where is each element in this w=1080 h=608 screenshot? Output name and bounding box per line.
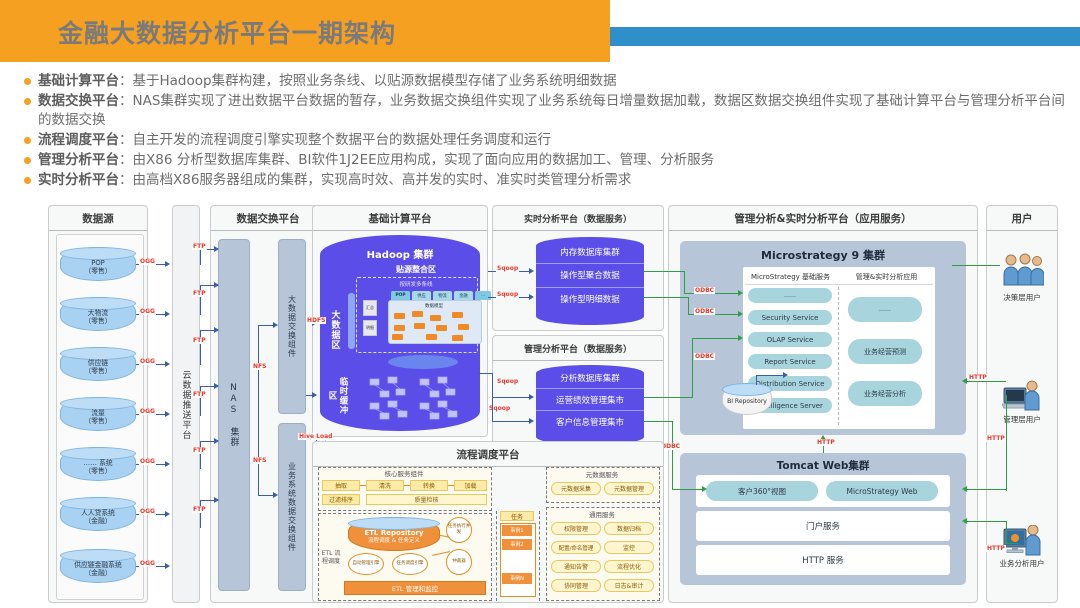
- bullet-dot-icon: [24, 78, 31, 85]
- common-item: 协同管理: [551, 579, 601, 592]
- ds-label-2: （金融）: [74, 569, 122, 577]
- column-header: 管理分析平台（数据服务）: [493, 336, 663, 361]
- common-item: 流程优化: [604, 560, 654, 573]
- data-source-cylinder: 供应链 （零售）: [60, 347, 136, 381]
- bullet-term: 实时分析平台: [38, 172, 119, 188]
- memory-db-title: 内存数据库集群: [536, 245, 644, 259]
- ds-label-1: 流量: [84, 409, 111, 417]
- meta-item: 元数据管理: [604, 482, 654, 495]
- task-row: 事例1: [502, 525, 532, 536]
- bullet-dot-icon: [24, 137, 31, 144]
- bullet-text: 自主开发的流程调度引擎实现整个数据平台的数据处理任务调度和运行: [133, 132, 552, 148]
- column-header: 管理分析&实时分析平台（应用服务）: [669, 206, 977, 231]
- accent-bar: [610, 27, 1080, 46]
- biz-exchange-component: 业务系统数据交换组件: [278, 423, 306, 591]
- data-source-cylinder: 大物流 （零售）: [60, 297, 136, 331]
- protocol-label-ogg: OGG: [139, 358, 156, 365]
- bullet-sep: ：: [119, 152, 133, 168]
- etl-label: ETL 流程调度: [320, 543, 342, 573]
- ms-service-pill[interactable]: ……: [748, 288, 832, 303]
- hadoop-tab[interactable]: 金融: [454, 291, 473, 300]
- bi-repository-cylinder: BI Repository: [722, 383, 772, 415]
- flow-oval: 自动管理引擎: [348, 553, 384, 575]
- protocol-label-ftp: FTP: [192, 391, 207, 398]
- common-item: 监控: [604, 541, 654, 554]
- column-header: 用户: [987, 206, 1057, 231]
- core-step: 转换: [410, 480, 448, 491]
- ds-label-1: 供应链金融系统: [74, 561, 122, 569]
- ds-label-2: （零售）: [84, 367, 111, 375]
- bullet-term: 数据交换平台: [38, 93, 119, 109]
- column-header: 基础计算平台: [313, 206, 487, 231]
- ms-app-pill[interactable]: 业务经营分析: [848, 381, 922, 406]
- protocol-label-nfs: NFS: [252, 457, 267, 464]
- biz-lines-label: 按研发多条线: [360, 279, 472, 289]
- flow-oval: 仲裁器: [446, 549, 472, 575]
- portal-service: 门户服务: [696, 511, 950, 541]
- ms-service-pill[interactable]: OLAP Service: [748, 332, 832, 347]
- user-label: 管理层用户: [988, 413, 1056, 425]
- task-row: 事例2: [502, 539, 532, 550]
- core-step: 清洗: [366, 480, 404, 491]
- hadoop-title: Hadoop 集群: [320, 245, 480, 261]
- user-label: 业务分析用户: [984, 557, 1060, 569]
- bullet-dot-icon: [24, 98, 31, 105]
- protocol-label-ogg: OGG: [139, 508, 156, 515]
- cloud-push-platform-label: 云数据推送平台: [176, 325, 196, 485]
- core-step: 抽取: [322, 480, 360, 491]
- tomcat-title: Tomcat Web集群: [680, 457, 966, 473]
- bullet-text: 由高档X86服务器组成的集群，实现高时效、高并发的实时、准实时类管理分析需求: [133, 172, 632, 188]
- user-label: 决策层用户: [988, 291, 1056, 303]
- column-header: 流程调度平台: [313, 442, 663, 467]
- bullet-sep: ：: [119, 93, 133, 109]
- ms-service-pill[interactable]: Security Service: [748, 310, 832, 325]
- ds-label-1: 供应链: [84, 359, 111, 367]
- bullet-dot-icon: [24, 157, 31, 164]
- architecture-diagram: 数据源 POP （零售） 大物流 （零售） 供应链 （零售） 流量 （零售） ……: [48, 205, 1058, 603]
- column-header: 数据源: [49, 206, 147, 231]
- bullet-term: 流程调度平台: [38, 132, 119, 148]
- protocol-label-ftp: FTP: [192, 447, 207, 454]
- memory-db-row: 操作型明细数据: [536, 289, 644, 309]
- protocol-label-nfs: NFS: [252, 363, 267, 370]
- hadoop-tab[interactable]: …: [475, 291, 491, 300]
- ds-label-2: （零售）: [84, 267, 111, 275]
- bullet-sep: ：: [119, 172, 133, 188]
- ms-service-pill[interactable]: Report Service: [748, 354, 832, 369]
- hadoop-tab[interactable]: 物流: [433, 291, 452, 300]
- data-model-label: 数据模型: [388, 301, 480, 310]
- ds-label-1: 人人贷系统: [81, 509, 115, 517]
- task-row: 事例N: [502, 573, 532, 584]
- protocol-label-hdfs: HDFS: [306, 317, 326, 324]
- bullet-sep: ：: [119, 73, 133, 89]
- bigdata-zone-label: 大数据区: [324, 295, 346, 365]
- ms-app-pill[interactable]: ……: [848, 297, 922, 322]
- etl-repository-cylinder: ETL Repository 流程调度 & 任务定义: [348, 517, 440, 551]
- protocol-label-ogg: OGG: [139, 458, 156, 465]
- hadoop-side-tab[interactable]: 汇总: [363, 300, 377, 316]
- hadoop-tab[interactable]: POP: [391, 291, 410, 300]
- protocol-label-ftp: FTP: [192, 506, 207, 513]
- bullet-dot-icon: [24, 177, 31, 184]
- protocol-label-sqoop: Sqoop: [496, 291, 519, 298]
- list-item: 实时分析平台：由高档X86服务器组成的集群，实现高时效、高并发的实时、准实时类管…: [24, 171, 1070, 190]
- common-item: 数据归档: [604, 522, 654, 535]
- list-item: 数据交换平台：NAS集群实现了进出数据平台数据的暂存，业务数据交换组件实现了业务…: [24, 92, 1070, 130]
- ms-left-header: MicroStrategy 基础服务: [743, 269, 838, 285]
- protocol-label-ftp: FTP: [192, 337, 207, 344]
- data-source-cylinder: 供应链金融系统 （金融）: [60, 549, 136, 583]
- protocol-label-http: HTTP: [816, 439, 836, 446]
- bullet-text: 基于Hadoop集群构建，按照业务条线、以贴源数据模型存储了业务系统明细数据: [133, 73, 617, 89]
- common-item: 配置/命名管理: [551, 541, 601, 554]
- bullet-text: 由X86 分析型数据库集群、BI软件1J2EE应用构成，实现了面向应用的数据加工…: [133, 152, 715, 168]
- analysis-db-row: 运营绩效管理集市: [536, 390, 644, 409]
- common-service-label: 通用服务: [546, 508, 658, 519]
- analysis-db-row: 客户信息管理集市: [536, 412, 644, 431]
- ds-label-1: 大物流: [84, 309, 111, 317]
- ds-label-2: （零售）: [83, 467, 112, 475]
- protocol-label-odbc: ODBC: [694, 308, 715, 315]
- hadoop-side-tab[interactable]: 明细: [363, 320, 377, 336]
- http-service: HTTP 服务: [696, 545, 950, 575]
- ds-label-2: （零售）: [84, 417, 111, 425]
- bigdata-exchange-component: 大数据交换组件: [278, 239, 306, 414]
- hadoop-tab[interactable]: 供应: [412, 291, 431, 300]
- bullet-sep: ：: [119, 132, 133, 148]
- column-header: 数据交换平台: [211, 206, 325, 231]
- bullet-term: 管理分析平台: [38, 152, 119, 168]
- nas-cluster: NAS 集群: [218, 239, 250, 591]
- column-header: 实时分析平台（数据服务）: [493, 206, 663, 231]
- data-source-cylinder: 人人贷系统 （金融）: [60, 497, 136, 531]
- protocol-label-ogg: OGG: [139, 258, 156, 265]
- protocol-label-hiveload: Hive Load: [298, 433, 333, 440]
- common-item: 通知告警: [551, 560, 601, 573]
- protocol-label-ftp: FTP: [192, 290, 207, 297]
- core-sub-right: 质量检核: [366, 494, 487, 505]
- protocol-label-ogg: OGG: [139, 560, 156, 567]
- protocol-label-ogg: OGG: [139, 308, 156, 315]
- etl-repo-title: ETL Repository: [364, 529, 423, 537]
- core-step: 加载: [454, 480, 487, 491]
- list-item: 基础计算平台：基于Hadoop集群构建，按照业务条线、以贴源数据模型存储了业务系…: [24, 72, 1070, 91]
- protocol-label-odbc: ODBC: [694, 353, 715, 360]
- protocol-label-ftp: FTP: [192, 243, 207, 250]
- analysis-db-title: 分析数据库集群: [536, 371, 644, 385]
- tomcat-app-pill[interactable]: 客户360°视图: [706, 481, 818, 501]
- ms-right-header: 管理&实时分析应用: [839, 269, 934, 285]
- bullet-list: 基础计算平台：基于Hadoop集群构建，按照业务条线、以贴源数据模型存储了业务系…: [24, 72, 1070, 191]
- task-label: 任务: [500, 511, 534, 521]
- data-source-cylinder: POP （零售）: [60, 247, 136, 281]
- protocol-label-http: HTTP: [968, 374, 988, 381]
- core-service-label: 核心服务组件: [318, 467, 490, 478]
- ds-label-1: …… 系统: [83, 459, 112, 467]
- bullet-term: 基础计算平台: [38, 73, 119, 89]
- ds-label-2: （零售）: [84, 317, 111, 325]
- buffer-zone-label: 临时缓冲区: [324, 373, 350, 419]
- bi-repository-label: BI Repository: [727, 392, 767, 406]
- data-source-cylinder: …… 系统 （零售）: [60, 447, 136, 481]
- flow-oval: 任务调度引擎: [392, 553, 428, 575]
- ds-label-2: （金融）: [81, 517, 115, 525]
- common-item: 日志&审计: [604, 579, 654, 592]
- protocol-label-odbc: ODBC: [694, 287, 715, 294]
- ds-label-1: POP: [84, 259, 111, 267]
- microstrategy-title: Microstrategy 9 集群: [680, 247, 966, 263]
- protocol-label-sqoop: Sqoop: [496, 265, 519, 272]
- protocol-label-ogg: OGG: [139, 408, 156, 415]
- protocol-label-sqoop: Sqoop: [496, 378, 519, 385]
- etl-monitor: ETL 管理和监控: [344, 581, 486, 595]
- memory-db-row: 操作型聚合数据: [536, 265, 644, 285]
- core-sub-left: 过滤排序: [322, 494, 360, 505]
- protocol-label-http: HTTP: [986, 545, 1006, 552]
- data-source-cylinder: 流量 （零售）: [60, 397, 136, 431]
- meta-service-label: 元数据服务: [546, 468, 658, 479]
- meta-item: 元数据采集: [551, 482, 601, 495]
- protocol-label-http: HTTP: [986, 435, 1006, 442]
- page-title: 金融大数据分析平台一期架构: [58, 14, 396, 50]
- integration-zone-label: 贴源整合区: [358, 263, 474, 275]
- flow-oval: 任务执行并发: [446, 517, 472, 543]
- etl-repo-sub: 流程调度 & 任务定义: [364, 537, 423, 545]
- group-people-icon: [1000, 253, 1044, 293]
- ms-app-pill[interactable]: 业务经营预测: [848, 339, 922, 364]
- list-item: 流程调度平台：自主开发的流程调度引擎实现整个数据平台的数据处理任务调度和运行: [24, 131, 1070, 150]
- list-item: 管理分析平台：由X86 分析型数据库集群、BI软件1J2EE应用构成，实现了面向…: [24, 151, 1070, 170]
- bullet-text: NAS集群实现了进出数据平台数据的暂存，业务数据交换组件实现了业务系统每日增量数…: [38, 93, 1065, 128]
- common-item: 权限管理: [551, 522, 601, 535]
- tomcat-app-pill[interactable]: MicroStrategy Web: [826, 481, 938, 501]
